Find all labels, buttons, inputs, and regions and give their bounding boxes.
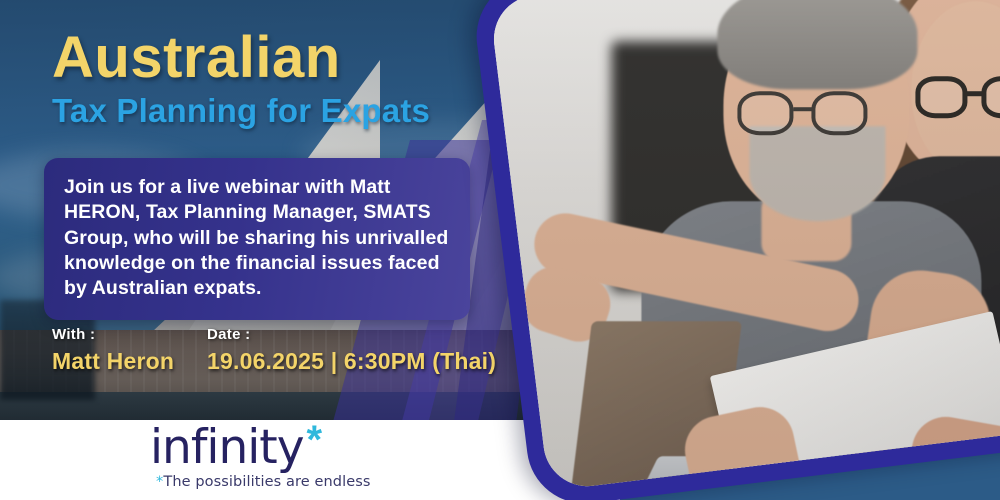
- speaker-name: Matt Heron: [52, 348, 207, 375]
- event-details: With : Matt Heron Date : 19.06.2025 | 6:…: [52, 326, 496, 375]
- feature-photo-frame: [470, 0, 1000, 500]
- photo-color-grade: [491, 0, 1000, 491]
- speaker-block: With : Matt Heron: [52, 326, 207, 375]
- couple-photo: [491, 0, 1000, 491]
- feature-photo-clip: [489, 0, 1000, 491]
- headline-block: Australian Tax Planning for Expats: [52, 28, 522, 129]
- page-title: Australian: [52, 28, 522, 87]
- date-label: Date :: [207, 326, 496, 343]
- description-card: Join us for a live webinar with Matt HER…: [44, 158, 470, 320]
- webinar-banner: Australian Tax Planning for Expats Join …: [0, 0, 1000, 500]
- infinity-logo: infinity * *The possibilities are endles…: [150, 424, 371, 490]
- speaker-label: With :: [52, 326, 207, 343]
- asterisk-icon: *: [307, 420, 323, 460]
- description-text: Join us for a live webinar with Matt HER…: [64, 175, 450, 302]
- page-subtitle: Tax Planning for Expats: [52, 93, 522, 129]
- logo-tagline-text: The possibilities are endless: [163, 474, 370, 490]
- logo-wordmark-row: infinity *: [150, 424, 322, 471]
- logo-tagline: *The possibilities are endless: [156, 474, 371, 490]
- date-value: 19.06.2025 | 6:30PM (Thai): [207, 348, 496, 375]
- date-block: Date : 19.06.2025 | 6:30PM (Thai): [207, 326, 496, 375]
- logo-wordmark: infinity: [150, 424, 304, 471]
